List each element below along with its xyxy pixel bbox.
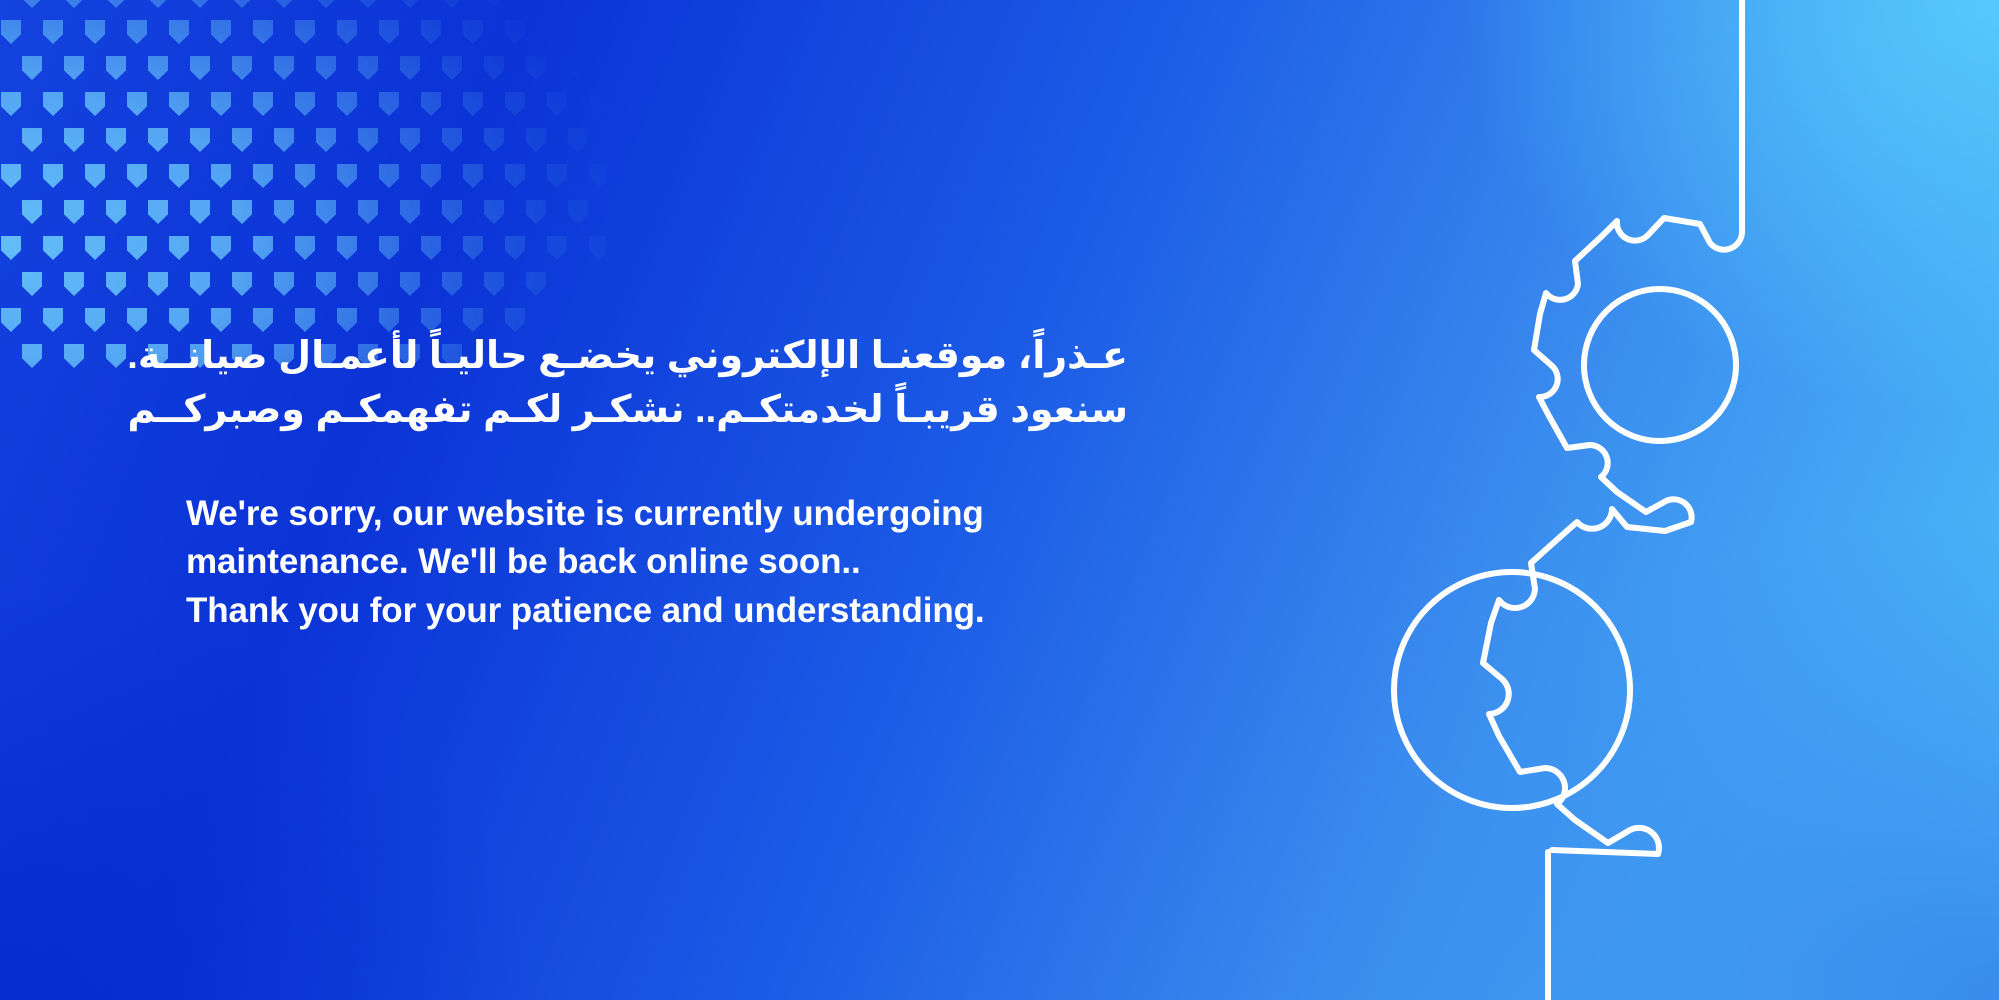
arabic-line-2: سنعود قريبـاً لخدمتكـم.. نشكـر لكـم تفهم… [186, 384, 1128, 438]
maintenance-page: عـذراً، موقعنـا الإلكتروني يخضـع حاليـاً… [0, 0, 1999, 1000]
maintenance-message: عـذراً، موقعنـا الإلكتروني يخضـع حاليـاً… [186, 330, 1146, 635]
english-line-3: Thank you for your patience and understa… [186, 587, 1146, 635]
english-line-2: maintenance. We'll be back online soon.. [186, 538, 1146, 586]
english-line-1: We're sorry, our website is currently un… [186, 490, 1146, 538]
arabic-line-1: عـذراً، موقعنـا الإلكتروني يخضـع حاليـاً… [186, 330, 1128, 384]
english-message: We're sorry, our website is currently un… [186, 490, 1146, 635]
arabic-message: عـذراً، موقعنـا الإلكتروني يخضـع حاليـاً… [186, 330, 1128, 438]
